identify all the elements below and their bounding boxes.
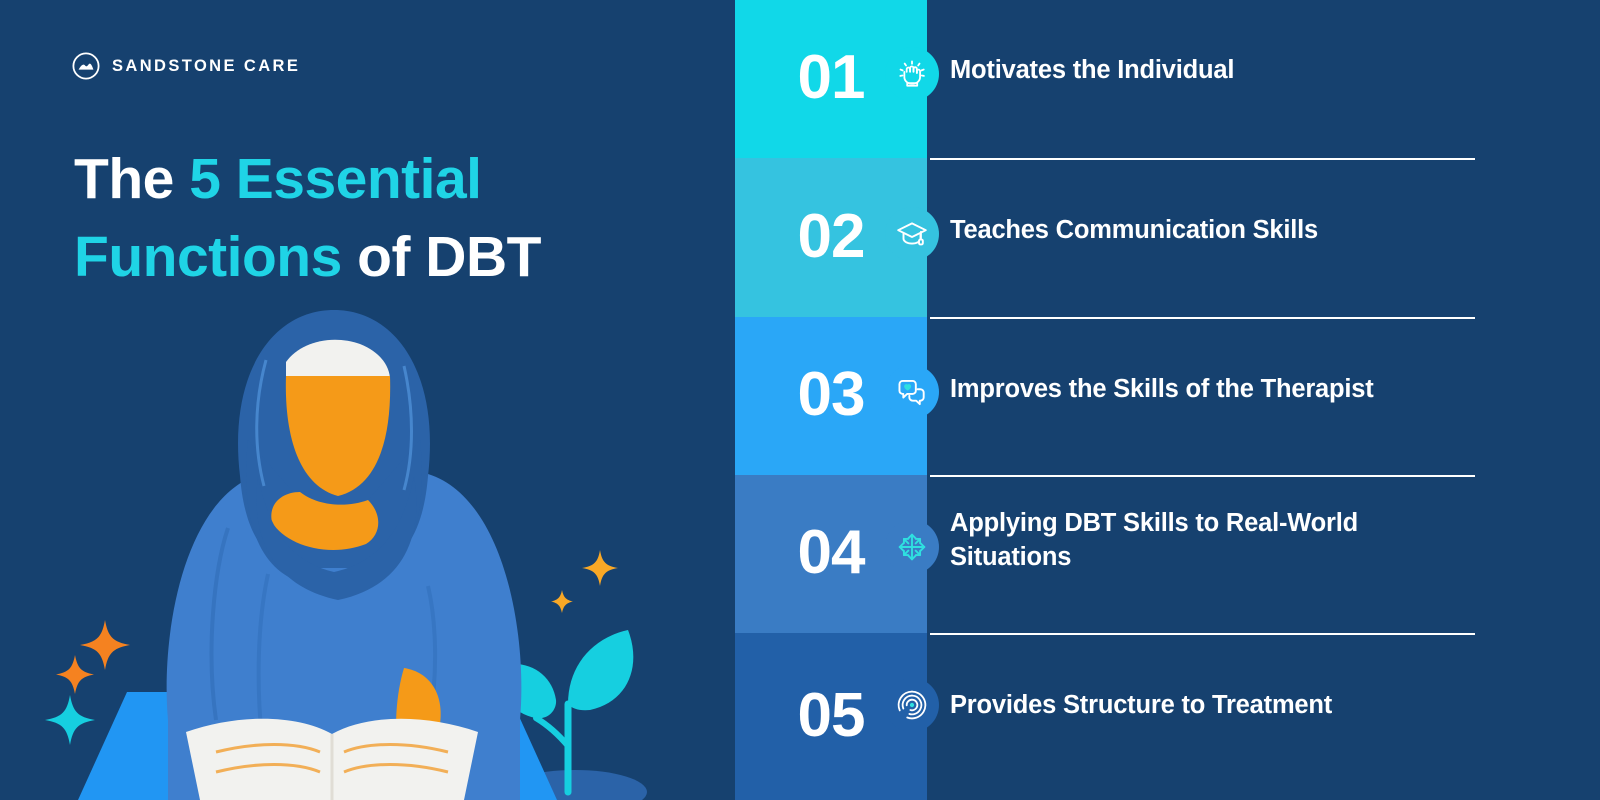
left-panel: SANDSTONE CARE The 5 Essential Functions…: [0, 0, 722, 800]
item-number: 01: [798, 47, 865, 109]
page-title: The 5 Essential Functions of DBT: [74, 140, 674, 296]
item-label: Improves the Skills of the Therapist: [950, 373, 1550, 407]
item-label: Teaches Communication Skills: [950, 214, 1550, 248]
list-item[interactable]: 04 Applying DBT Skills to Real-World Sit…: [722, 475, 1600, 633]
item-number: 03: [798, 364, 865, 426]
list-item[interactable]: 02 Teaches Communication Skills: [722, 158, 1600, 317]
raised-fist-icon: [885, 47, 939, 101]
sparkle-orange-small: [56, 655, 94, 694]
plant-stem-left: [536, 718, 568, 746]
item-number: 05: [798, 685, 865, 747]
brand-name: SANDSTONE CARE: [112, 57, 300, 76]
row-divider: [930, 317, 1475, 319]
row-divider: [930, 633, 1475, 635]
headline-part-3: of DBT: [342, 225, 541, 289]
infographic-canvas: SANDSTONE CARE The 5 Essential Functions…: [0, 0, 1600, 800]
target-maze-icon: [885, 678, 939, 732]
item-label: Provides Structure to Treatment: [950, 689, 1550, 723]
list-item[interactable]: 05 Provides Structure to Treatment: [722, 633, 1600, 800]
brand-logo[interactable]: SANDSTONE CARE: [72, 52, 300, 80]
graduation-cap-icon: [885, 207, 939, 261]
sparkle-plant-large: [582, 550, 618, 586]
sparkle-plant-small: [551, 590, 573, 613]
item-label: Motivates the Individual: [950, 54, 1550, 88]
list-item[interactable]: 03 Improves the Skills of the Therapist: [722, 317, 1600, 475]
plant-leaf-right: [568, 630, 633, 710]
expand-arrows-icon: [885, 520, 939, 574]
headline-part-1: The: [74, 147, 189, 211]
mountain-circle-icon: [72, 52, 100, 80]
functions-list: 01 Motivates the Individual 0: [722, 0, 1600, 800]
item-number: 04: [798, 522, 865, 584]
item-label: Applying DBT Skills to Real-World Situat…: [950, 507, 1420, 575]
list-item[interactable]: 01 Motivates the Individual: [722, 0, 1600, 158]
sparkle-cyan: [45, 695, 95, 745]
row-divider: [930, 475, 1475, 477]
sparkle-orange-large: [80, 620, 130, 670]
item-number: 02: [798, 206, 865, 268]
chat-heart-icon: [885, 365, 939, 419]
row-divider: [930, 158, 1475, 160]
woman-reading-book-illustration: [0, 300, 722, 800]
